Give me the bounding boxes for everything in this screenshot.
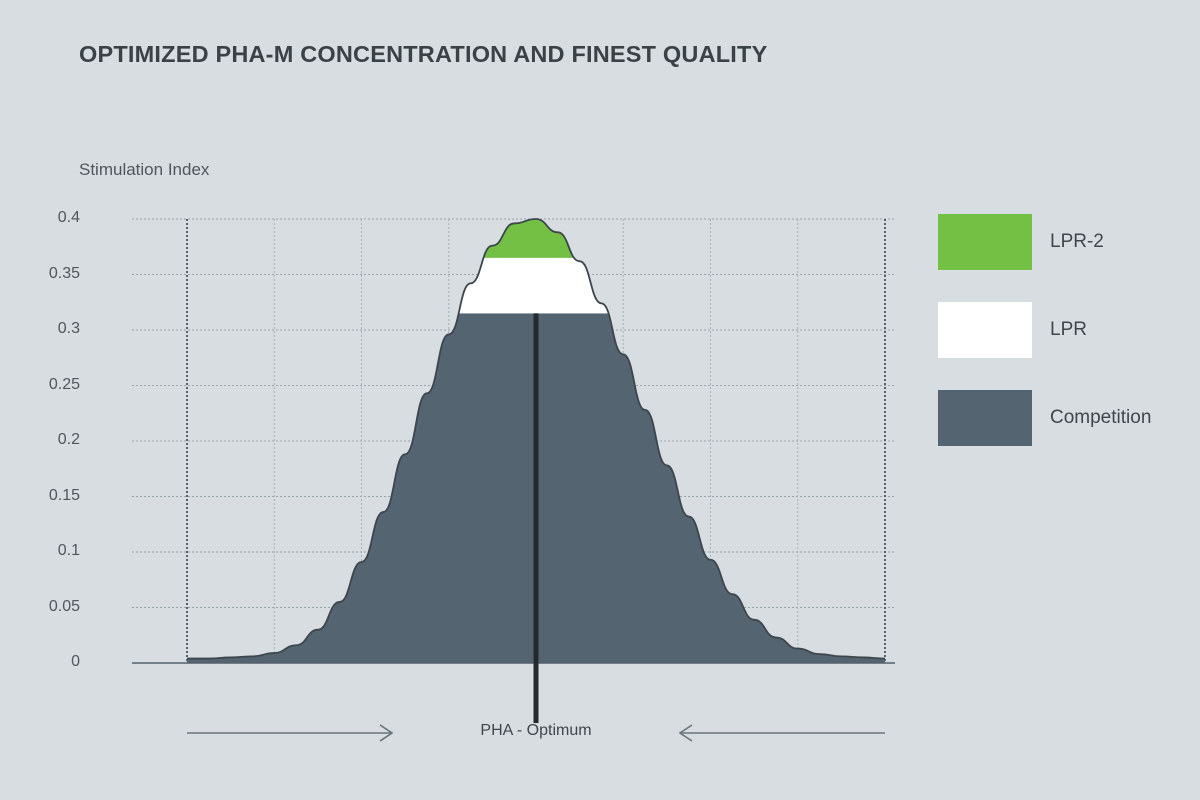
legend-item-lpr[interactable]: LPR — [938, 302, 1188, 358]
legend-swatch-competition — [938, 390, 1032, 446]
band-lpr — [185, 258, 887, 314]
band-lpr2 — [185, 219, 887, 258]
legend-label-lpr: LPR — [1050, 319, 1087, 341]
legend-label-lpr2: LPR-2 — [1050, 231, 1104, 253]
legend-swatch-lpr2 — [938, 214, 1032, 270]
legend-item-lpr2[interactable]: LPR-2 — [938, 214, 1188, 270]
legend-swatch-lpr — [938, 302, 1032, 358]
legend-item-competition[interactable]: Competition — [938, 390, 1188, 446]
legend-label-competition: Competition — [1050, 407, 1151, 429]
chart-legend: LPR-2 LPR Competition — [938, 214, 1188, 446]
x-axis-center-label: PHA - Optimum — [0, 722, 1136, 740]
chart-root: OPTIMIZED PHA-M CONCENTRATION AND FINEST… — [0, 0, 1200, 800]
